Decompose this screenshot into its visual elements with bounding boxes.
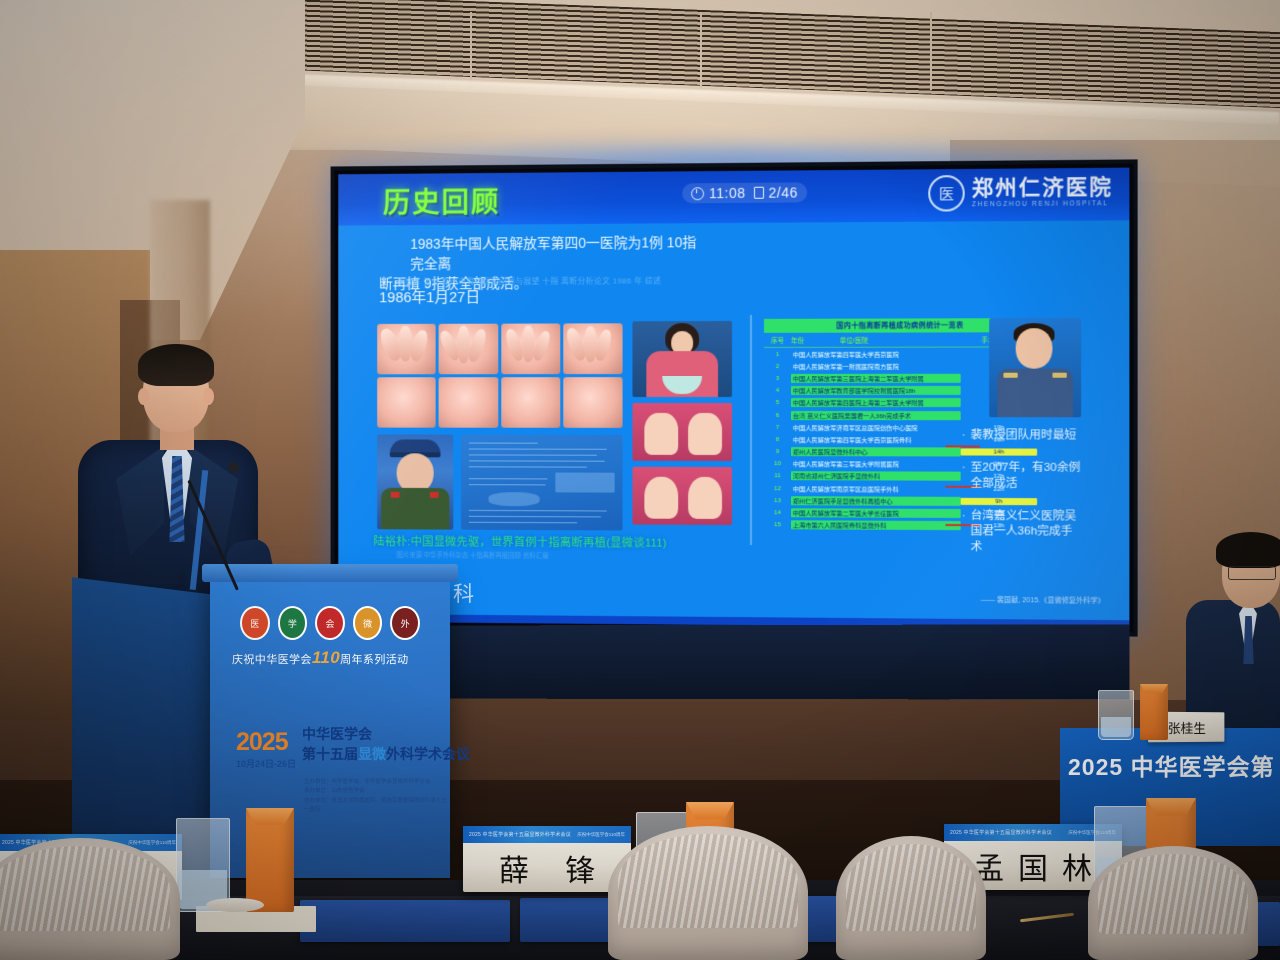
society-logo: 医 xyxy=(240,606,270,640)
row-index: 13 xyxy=(764,497,791,504)
org-line-1: 中华医学会 xyxy=(302,724,470,744)
anniversary-suffix: 周年系列活动 xyxy=(340,654,408,666)
row-institution: 上海市第六人民医院骨科显微外科 xyxy=(791,521,961,531)
clock-icon xyxy=(691,187,704,200)
vent-seam xyxy=(470,12,472,90)
podium-anniversary-line: 庆祝中华医学会110周年系列活动 xyxy=(232,648,409,668)
row-index: 10 xyxy=(764,460,791,467)
row-institution: 河南省郑州仁济医院手显微外科 xyxy=(791,472,961,482)
seated-attendee-hair xyxy=(1216,532,1280,568)
bullet-dot: · xyxy=(962,509,966,557)
org-part-b: 显微 xyxy=(358,746,386,762)
table-header-cell: 序号 xyxy=(764,335,791,345)
society-logo: 会 xyxy=(315,606,345,640)
portrait-face xyxy=(1016,328,1053,369)
saucer xyxy=(206,898,264,912)
water-glass xyxy=(1098,690,1134,740)
year-value: 2025 xyxy=(236,728,288,756)
bullet-dot: · xyxy=(962,428,966,444)
anniversary-prefix: 庆祝中华医学会 xyxy=(232,654,312,666)
row-index: 5 xyxy=(764,399,791,406)
hand-photo xyxy=(501,323,560,374)
row-index: 11 xyxy=(764,473,791,480)
bullet-text: 至2007年，有30余例全部成活 xyxy=(971,460,1082,492)
row-index: 12 xyxy=(764,485,791,492)
row-index: 15 xyxy=(764,521,791,528)
chair xyxy=(608,826,808,960)
hand-photo xyxy=(439,324,498,375)
nameplate-strip-sub: 庆祝中华医学会110周年 xyxy=(577,832,625,838)
row-index: 3 xyxy=(764,375,791,382)
bullet-item: · 台湾嘉义仁义医院吴国君一人36h完成手术 xyxy=(962,509,1082,558)
slide-citation: —— 裴国献, 2015.《显微修复外科学》 xyxy=(981,595,1105,606)
officer-portrait-photo xyxy=(377,435,453,530)
bullet-dot: · xyxy=(962,460,966,492)
nameplate-strip-text: 2025 中华医学会第十五届显微外科学术会议 xyxy=(950,829,1052,836)
hand-photo xyxy=(439,377,498,428)
vent-seam xyxy=(930,12,932,90)
podium-top xyxy=(202,564,458,582)
anniversary-number: 110 xyxy=(312,648,340,667)
row-index: 2 xyxy=(764,363,791,370)
row-index: 9 xyxy=(764,448,791,455)
org-part-c: 外科学术会议 xyxy=(386,746,470,762)
nameplate-strip-text: 2025 中华医学会第十五届显微外科学术会议 xyxy=(469,831,571,838)
presentation-timer: 11:08 2/46 xyxy=(682,182,807,203)
row-institution: 中国人民解放军南京军区总医院手外科 xyxy=(791,484,961,494)
row-institution: 郑州仁济医院手足显微外科再植中心 xyxy=(791,496,961,506)
conference-folder xyxy=(300,900,510,942)
row-institution: 中国人民解放军第三军医大学附属医院 xyxy=(791,459,961,468)
fine-line-1: 主办单位：中华医学会、中华医学会显微外科学分会 xyxy=(304,778,450,787)
vent-seam xyxy=(700,12,702,90)
shoulder-board xyxy=(1052,373,1066,378)
page-indicator: 2/46 xyxy=(769,184,798,200)
head-table-banner: 2025 中华医学会第 xyxy=(1068,748,1275,782)
table-header-cell: 单位/医院 xyxy=(840,334,960,344)
stage-backdrop xyxy=(330,624,1129,699)
podium-conference-title: 中华医学会 第十五届显微外科学术会议 xyxy=(302,724,470,765)
row-institution: 中国人民解放军第一附属医院南方医院 xyxy=(791,361,961,370)
slide-canvas: 历史回顾 11:08 2/46 医 郑州仁济医院 ZHENGZHOU RENJI… xyxy=(338,168,1129,629)
row-index: 7 xyxy=(764,424,791,431)
row-institution: 台湾 嘉义仁义医院吴国君一人36h完成手术 xyxy=(791,411,961,420)
row-institution: 中国人民解放军第四军医大学西京医院骨科 xyxy=(791,435,961,444)
table-header-cell: 年份 xyxy=(791,335,840,345)
banner-year: 2025 xyxy=(1068,754,1123,780)
chair xyxy=(836,836,986,960)
podium-logo-row: 医 学 会 微 外 xyxy=(240,606,420,640)
slide-title: 历史回顾 xyxy=(383,181,500,221)
org-line-2: 第十五届显微外科学术会议 xyxy=(302,744,470,764)
podium-year-badge: 2025 10月24日-26日 xyxy=(236,728,296,770)
row-institution: 郑州人民医院显微外科中心 xyxy=(791,447,961,456)
vertical-divider xyxy=(750,315,752,545)
hand-photo xyxy=(377,377,436,427)
shoulder-board xyxy=(1003,373,1017,378)
row-institution: 中国人民解放军济南军区总医院创伤中心医院 xyxy=(791,423,961,432)
hand-photo xyxy=(377,324,436,374)
society-logo: 微 xyxy=(353,606,383,640)
eyeglasses xyxy=(1228,566,1276,580)
patient-photo xyxy=(632,321,732,397)
juice-carton xyxy=(246,808,294,912)
nameplate-name: 薛 锋 xyxy=(463,843,631,892)
speaker-ear xyxy=(138,388,149,405)
page-icon xyxy=(753,187,763,199)
org-part-a: 第十五届 xyxy=(302,746,358,762)
hand-photo xyxy=(501,377,560,428)
row-institution: 中国人民解放军第三医院上海第二军医大学附属 xyxy=(791,374,961,383)
row-institution: 中国人民解放军第四军医大学西京医院 xyxy=(791,349,961,358)
bullet-text: 裴教授团队用时最短 xyxy=(971,428,1077,444)
nameplate-strip: 2025 中华医学会第十五届显微外科学术会议 庆祝中华医学会110周年 xyxy=(463,826,631,843)
bullet-item: · 裴教授团队用时最短 xyxy=(962,428,1082,444)
timer-value: 11:08 xyxy=(709,185,745,201)
hand-photos-grid xyxy=(377,323,622,428)
banner-text: 中华医学会第 xyxy=(1131,754,1275,780)
slide-bullets: · 裴教授团队用时最短 · 至2007年，有30余例全部成活 · 台湾嘉义仁义医… xyxy=(962,428,1082,573)
microphone-head xyxy=(228,462,239,473)
hand-photo xyxy=(563,377,623,428)
recovered-hands-photo-2 xyxy=(632,467,732,525)
hospital-name-en: ZHENGZHOU RENJI HOSPITAL xyxy=(972,200,1113,208)
society-logo: 外 xyxy=(390,606,420,640)
row-institution: 中国人民解放军教育部医学院校附属医院18h xyxy=(791,386,961,395)
juice-carton xyxy=(1140,684,1168,740)
nameplate-strip-sub: 庆祝中华医学会110周年 xyxy=(128,840,176,846)
conference-photo-scene: 历史回顾 11:08 2/46 医 郑州仁济医院 ZHENGZHOU RENJI… xyxy=(0,0,1280,960)
bullet-item: · 至2007年，有30余例全部成活 xyxy=(962,460,1082,492)
fine-line-2: 承办单位：山东省医学会 xyxy=(304,787,450,796)
society-logo: 学 xyxy=(278,606,308,640)
nameplate: 2025 中华医学会第十五届显微外科学术会议 庆祝中华医学会110周年 薛 锋 xyxy=(463,826,631,892)
row-index: 8 xyxy=(764,436,791,443)
row-institution: 中国人民解放军第二军医大学长征医院 xyxy=(791,508,961,518)
bullet-text: 台湾嘉义仁义医院吴国君一人36h完成手术 xyxy=(971,509,1082,558)
lead-line-1: 1983年中国人民解放军第四0一医院为1例 10指完全离 xyxy=(379,233,704,274)
row-index: 1 xyxy=(764,350,791,357)
row-index: 4 xyxy=(764,387,791,394)
hospital-name-cn: 郑州仁济医院 xyxy=(972,177,1113,199)
year-dates: 10月24日-26日 xyxy=(236,757,296,770)
chair xyxy=(1088,846,1258,960)
slide-caption-sub: 图片来源 中华手外科杂志 十指离断再植回顾 资料汇编 xyxy=(397,549,722,561)
hospital-logo: 医 郑州仁济医院 ZHENGZHOU RENJI HOSPITAL xyxy=(928,174,1113,212)
rank-insignia xyxy=(391,492,400,498)
fine-line-3: 协办单位：青岛大学附属医院、解放军联勤保障部队第九七一医院 xyxy=(304,797,450,816)
podium-fine-print: 主办单位：中华医学会、中华医学会显微外科学分会 承办单位：山东省医学会 协办单位… xyxy=(304,778,450,815)
row-index: 6 xyxy=(764,412,791,419)
speaker-hair xyxy=(138,344,214,386)
hospital-logo-mark: 医 xyxy=(928,175,965,212)
recovered-hands-photo-1 xyxy=(632,403,732,461)
surgeon-portrait-photo xyxy=(989,318,1081,417)
speaker-ear xyxy=(203,388,214,405)
row-index: 14 xyxy=(764,509,791,516)
newspaper-clipping-photo xyxy=(461,435,622,531)
hand-photo xyxy=(563,323,623,374)
rank-insignia xyxy=(430,492,439,498)
row-institution: 中国人民解放军第四医院上海第二军医大学附属 xyxy=(791,398,961,407)
slide-date: 1986年1月27日 xyxy=(379,286,480,307)
